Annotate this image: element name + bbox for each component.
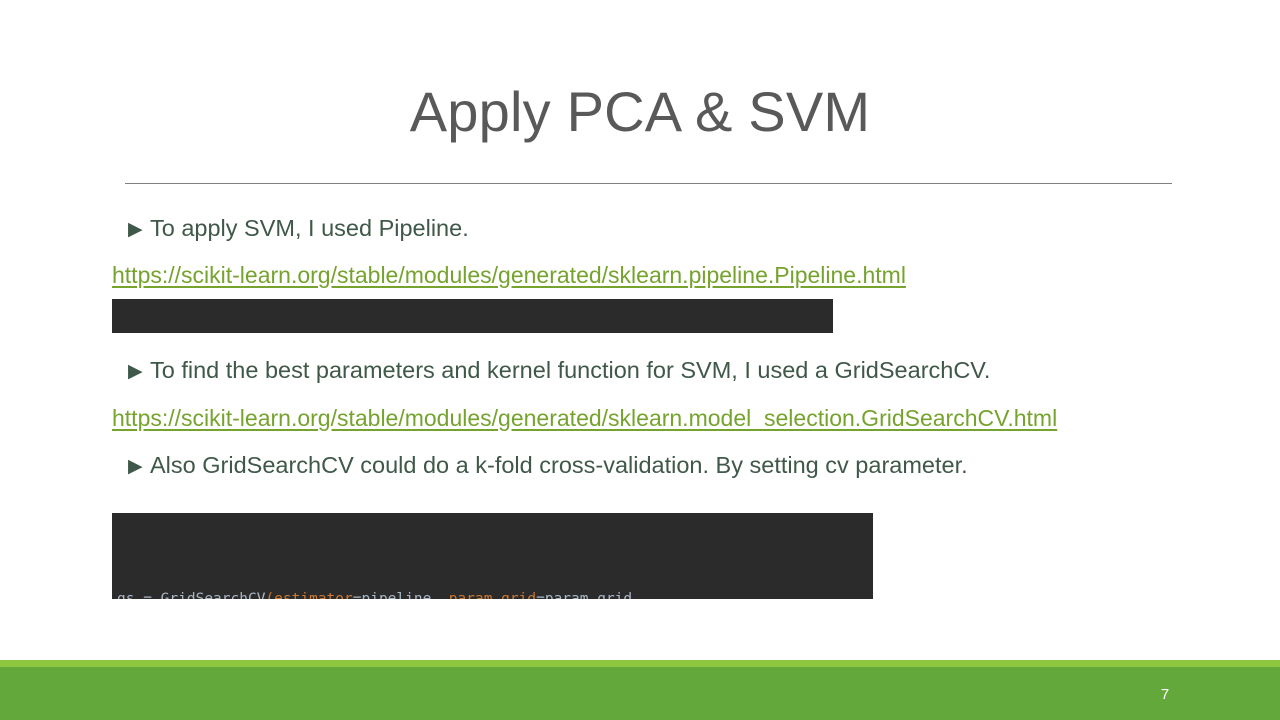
- triangle-bullet-icon: ▶: [128, 362, 150, 381]
- code-token: ,: [431, 591, 448, 599]
- page-number: 7: [1150, 687, 1180, 702]
- code-token: (: [265, 591, 274, 599]
- hyperlink-gridsearchcv-docs[interactable]: https://scikit-learn.org/stable/modules/…: [112, 406, 1057, 431]
- triangle-bullet-icon: ▶: [128, 457, 150, 476]
- hyperlink-pipeline-docs[interactable]: https://scikit-learn.org/stable/modules/…: [112, 263, 906, 288]
- bullet-text: To find the best parameters and kernel f…: [150, 357, 990, 384]
- code-block-gridsearchcv: gs = GridSearchCV(estimator=pipeline, pa…: [112, 513, 873, 599]
- triangle-bullet-icon: ▶: [128, 220, 150, 239]
- bullet-item: ▶ Also GridSearchCV could do a k-fold cr…: [128, 452, 968, 479]
- code-block-pipeline: pipeline = Pipeline([('scl', StandardSca…: [112, 299, 833, 333]
- code-token: ,: [632, 591, 641, 599]
- footer-band: [0, 667, 1280, 720]
- bullet-item: ▶ To apply SVM, I used Pipeline.: [128, 215, 469, 242]
- bullet-item: ▶ To find the best parameters and kernel…: [128, 357, 990, 384]
- slide-canvas: Apply PCA & SVM ▶ To apply SVM, I used P…: [0, 0, 1280, 720]
- code-token: param_grid: [449, 591, 536, 599]
- title-divider: [125, 183, 1172, 184]
- code-token: param_grid: [545, 591, 632, 599]
- bullet-text: Also GridSearchCV could do a k-fold cros…: [150, 452, 968, 479]
- code-token: pipeline: [361, 591, 431, 599]
- code-line: gs = GridSearchCV(estimator=pipeline, pa…: [117, 587, 873, 599]
- code-token: estimator: [274, 591, 353, 599]
- code-token: =: [134, 591, 160, 599]
- page-title: Apply PCA & SVM: [0, 84, 1280, 140]
- code-token: GridSearchCV: [161, 591, 266, 599]
- bullet-text: To apply SVM, I used Pipeline.: [150, 215, 469, 242]
- code-token: =: [536, 591, 545, 599]
- code-token: gs: [117, 591, 134, 599]
- footer-accent-stripe: [0, 660, 1280, 667]
